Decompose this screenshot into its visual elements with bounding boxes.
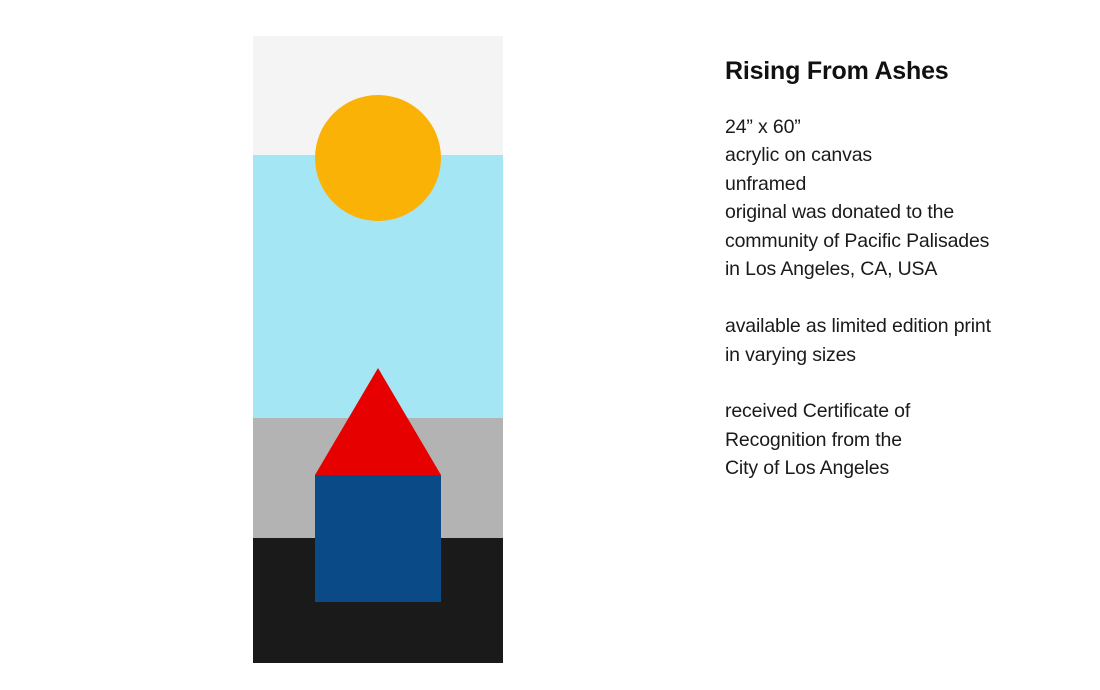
artwork-availability-text: available as limited edition print in va… [725,312,1075,369]
house-square [315,475,441,602]
caption-spacer-1 [725,284,1075,312]
artwork-caption: Rising From Ashes 24” x 60” acrylic on c… [725,58,1075,483]
page-title: Rising From Ashes [725,58,1075,86]
artwork-image[interactable] [253,36,503,663]
artwork-details-text: 24” x 60” acrylic on canvas unframed ori… [725,113,1075,285]
sun-circle [315,95,441,221]
artwork-recognition-text: received Certificate of Recognition from… [725,397,1075,483]
roof-triangle [315,368,441,475]
roof-triangle-shape [315,368,441,475]
caption-spacer-2 [725,369,1075,397]
